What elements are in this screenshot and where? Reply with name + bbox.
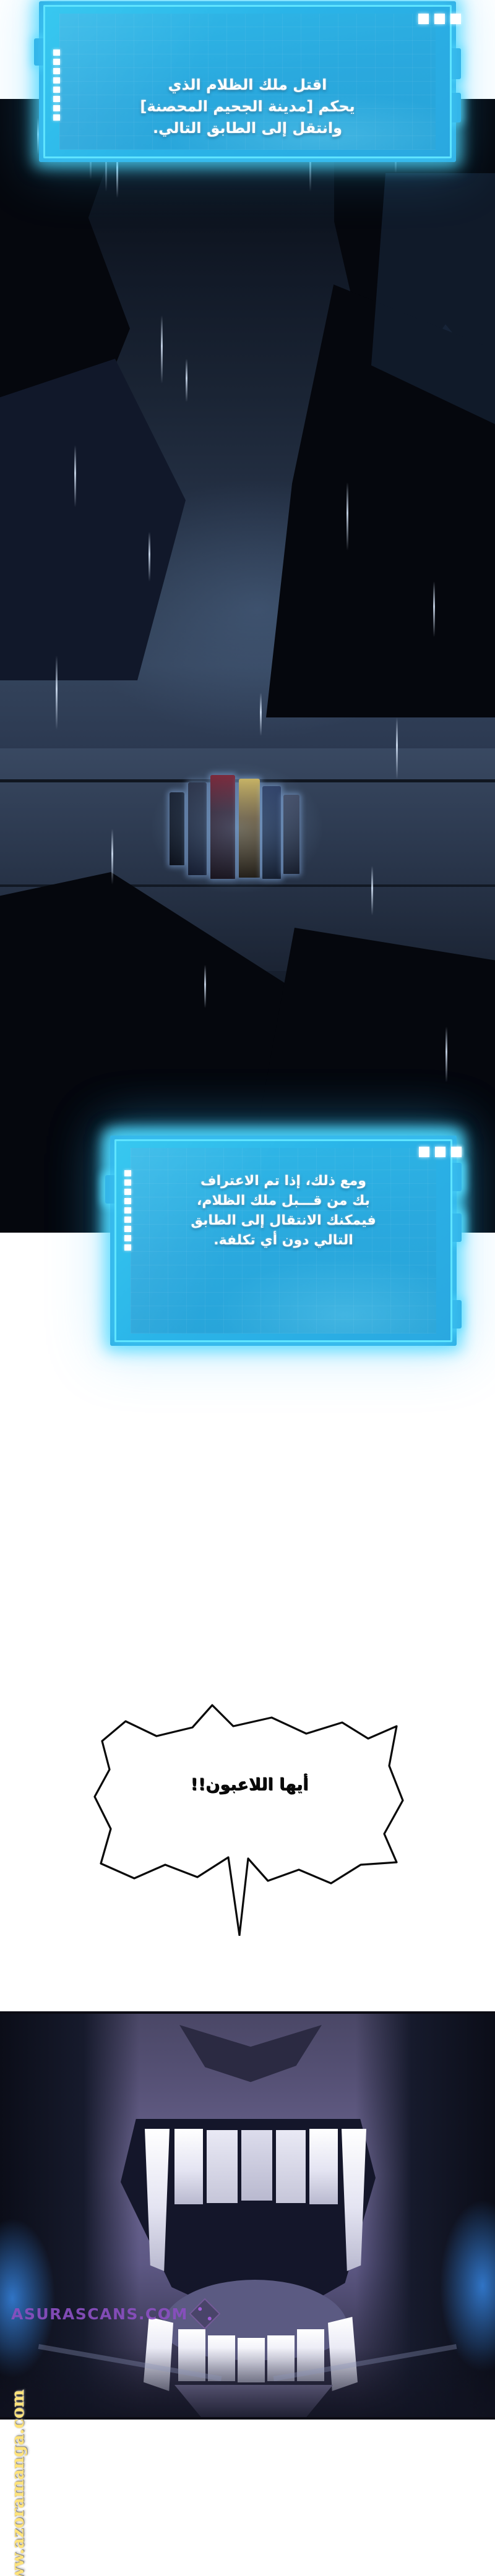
azora-watermark-text: www.azoramanga.com xyxy=(9,2389,28,2576)
gutter-before-mouth xyxy=(0,1936,495,2011)
rain-streak xyxy=(186,359,187,402)
system-window-1-notch-right-2 xyxy=(451,93,461,122)
system-window-1-line-1: اقتل ملك الظلام الذي xyxy=(88,74,407,96)
system-window-1-notch-right xyxy=(451,48,461,79)
system-window-2-line-4-top: التالي دون أي تكلفة. xyxy=(148,1231,419,1251)
upper-tooth-left-3 xyxy=(207,2130,238,2203)
rock-silhouette-left-2 xyxy=(0,359,186,680)
party-aura-glow xyxy=(147,760,327,896)
system-window-2-notch-right-3-top xyxy=(452,1300,462,1329)
upper-tooth-mid xyxy=(241,2130,272,2201)
hooded-figure-diamond-icon xyxy=(189,2298,220,2330)
azora-manga-watermark: www.azoramanga.com xyxy=(5,2415,32,2570)
rain-streak xyxy=(433,581,435,637)
system-window-2-line-2-top: بك من قـــبل ملك الظلام، xyxy=(148,1191,419,1211)
rain-streak xyxy=(74,445,76,507)
asura-scans-watermark: ASURASCANS.COM xyxy=(11,2303,216,2325)
upper-tooth-left-2 xyxy=(174,2129,203,2204)
system-window-quest-condition-top[interactable]: ومع ذلك، إذا تم الاعتراف بك من قـــبل مل… xyxy=(114,1139,452,1342)
upper-tooth-right-2 xyxy=(309,2129,338,2204)
system-window-2-line-1-top: ومع ذلك، إذا تم الاعتراف xyxy=(148,1171,419,1191)
system-window-1-line-3: وانتقل إلى الطابق التالي. xyxy=(88,118,407,139)
hero-party-group xyxy=(166,770,351,925)
system-window-2-text-top: ومع ذلك، إذا تم الاعتراف بك من قـــبل مل… xyxy=(114,1139,452,1251)
system-window-2-notch-right-2-top xyxy=(452,1213,462,1242)
minimize-box-icon[interactable] xyxy=(451,1147,462,1157)
shout-bubble-shape xyxy=(88,1679,410,1936)
webtoon-page: اقتل ملك الظلام الذي يحكم [مدينة الجحيم … xyxy=(0,0,495,2576)
system-window-2-notch-right-top xyxy=(452,1163,462,1191)
rain-streak xyxy=(445,1027,447,1082)
minimize-box-icon[interactable] xyxy=(450,14,461,24)
gutter-bottom xyxy=(0,2420,495,2576)
scene-monster-mouth-artwork xyxy=(0,2011,495,2420)
system-window-1-notch-left xyxy=(34,38,44,66)
snout-shadow xyxy=(179,2025,322,2093)
shout-bubble-text: أيها اللاعبون!! xyxy=(88,1775,410,1794)
collar-shadow xyxy=(0,2348,495,2420)
scene-dungeon-artwork xyxy=(0,99,495,1233)
rain-streak xyxy=(260,693,262,736)
system-window-1-text: اقتل ملك الظلام الذي يحكم [مدينة الجحيم … xyxy=(43,5,452,139)
system-window-quest-objective[interactable]: اقتل ملك الظلام الذي يحكم [مدينة الجحيم … xyxy=(43,5,452,158)
rain-streak xyxy=(148,532,150,581)
rain-streak xyxy=(161,315,163,383)
rain-streak xyxy=(204,965,206,1008)
rain-streak xyxy=(346,482,348,550)
system-window-2-line-3-top: فيمكنك الانتقال إلى الطابق xyxy=(148,1211,419,1231)
rain-streak xyxy=(111,829,113,884)
rain-streak xyxy=(396,717,398,779)
upper-tooth-right-3 xyxy=(276,2130,306,2203)
system-window-1-line-2: يحكم [مدينة الجحيم المحصنة] xyxy=(88,96,407,118)
shout-speech-bubble: أيها اللاعبون!! xyxy=(88,1679,410,1936)
system-window-2-notch-left-top xyxy=(105,1175,115,1204)
rain-streak xyxy=(56,656,58,730)
asura-watermark-text: ASURASCANS.COM xyxy=(11,2305,188,2323)
rain-streak xyxy=(371,866,373,915)
